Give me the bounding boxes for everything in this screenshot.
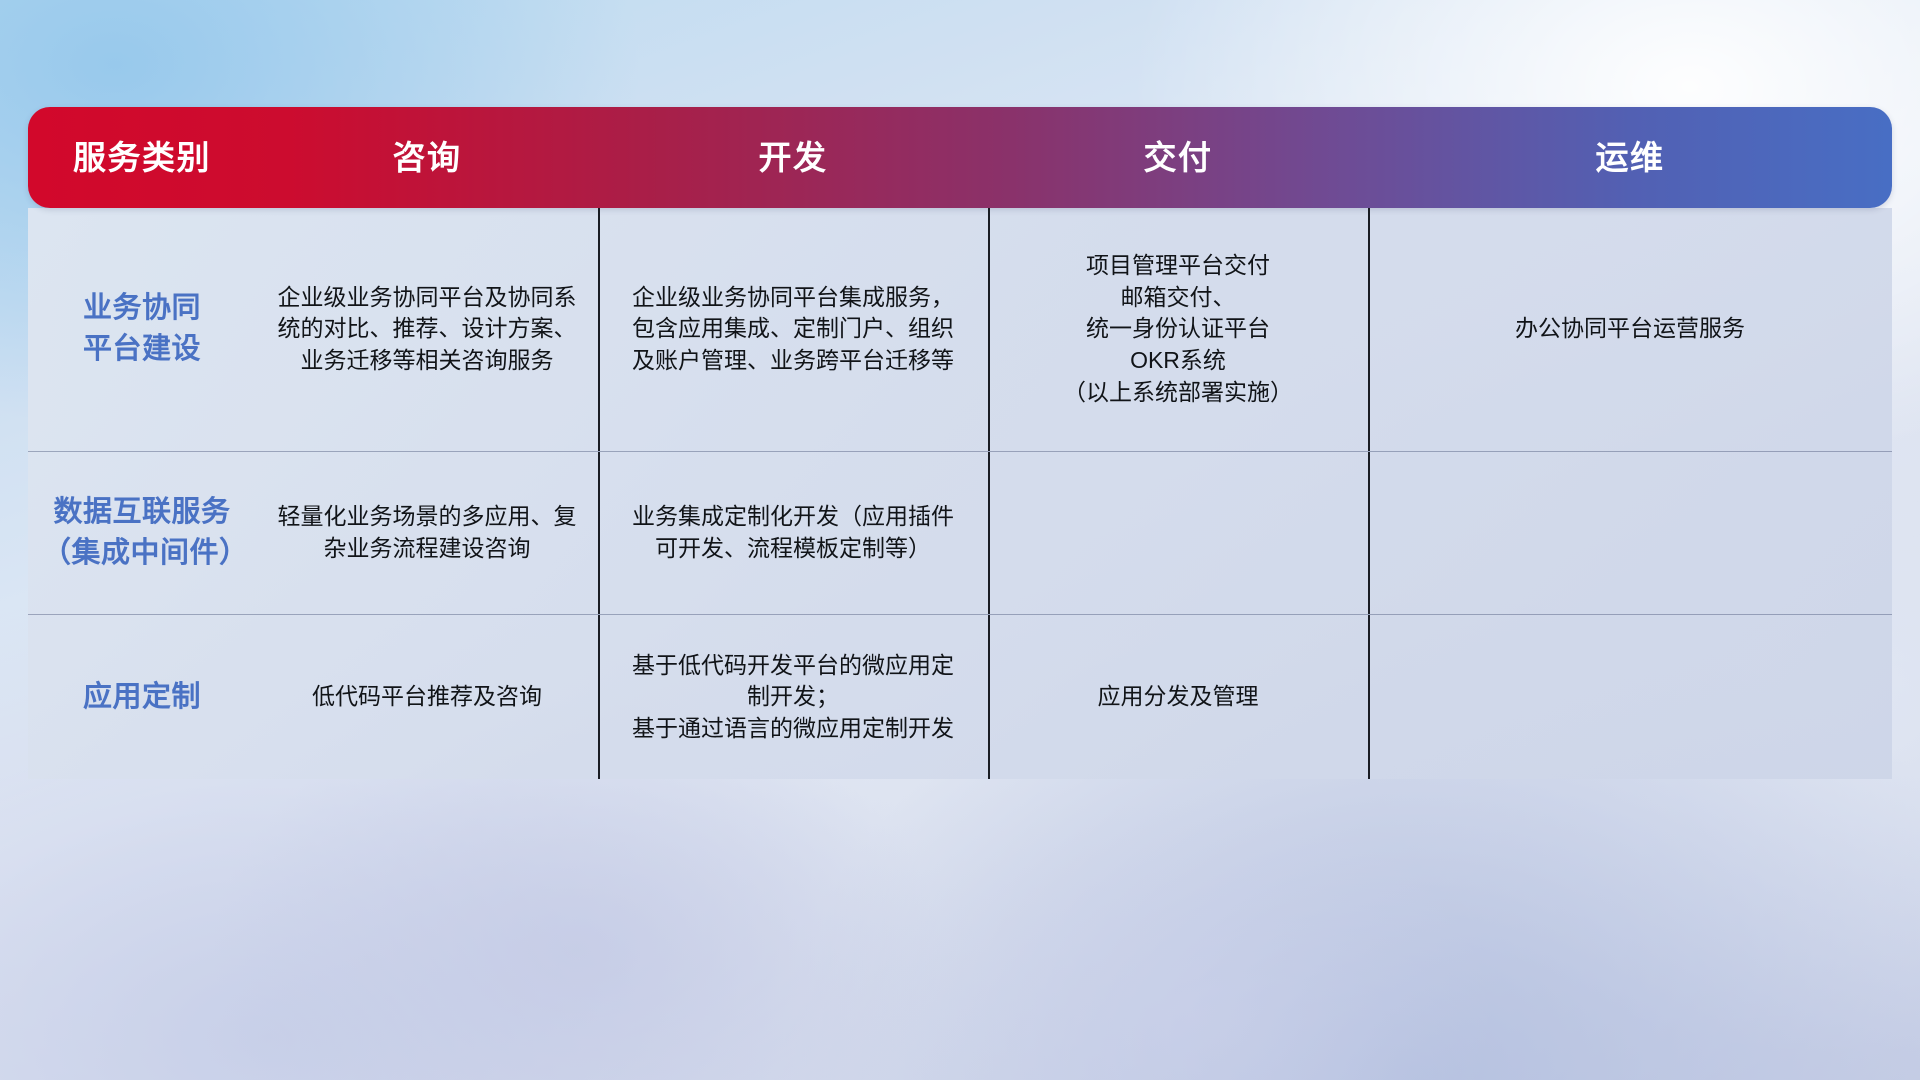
cell-category-row2: 数据互联服务 （集成中间件） <box>28 452 256 615</box>
cell-category-row3: 应用定制 <box>28 615 256 779</box>
table-row: 业务协同 平台建设 企业级业务协同平台及协同系 统的对比、推荐、设计方案、 业务… <box>28 208 1892 452</box>
cell-operations-row2 <box>1368 452 1892 615</box>
cell-development-row3: 基于低代码开发平台的微应用定 制开发； 基于通过语言的微应用定制开发 <box>598 615 988 779</box>
cell-category-row1: 业务协同 平台建设 <box>28 208 256 451</box>
cell-consulting-row2: 轻量化业务场景的多应用、复 杂业务流程建设咨询 <box>256 452 598 615</box>
header-cell-delivery: 交付 <box>988 141 1368 174</box>
header-cell-operations: 运维 <box>1368 141 1892 174</box>
service-matrix-table: 服务类别 咨询 开发 交付 运维 业务协同 平台建设 企业级业务协同平台及协同系… <box>28 107 1892 779</box>
cell-development-row1: 企业级业务协同平台集成服务， 包含应用集成、定制门户、组织 及账户管理、业务跨平… <box>598 208 988 451</box>
cell-consulting-row1: 企业级业务协同平台及协同系 统的对比、推荐、设计方案、 业务迁移等相关咨询服务 <box>256 208 598 451</box>
slide-canvas: 服务类别 咨询 开发 交付 运维 业务协同 平台建设 企业级业务协同平台及协同系… <box>0 0 1920 1080</box>
table-row: 数据互联服务 （集成中间件） 轻量化业务场景的多应用、复 杂业务流程建设咨询 业… <box>28 452 1892 616</box>
cell-delivery-row2 <box>988 452 1368 615</box>
table-header-row: 服务类别 咨询 开发 交付 运维 <box>28 107 1892 208</box>
table-body: 业务协同 平台建设 企业级业务协同平台及协同系 统的对比、推荐、设计方案、 业务… <box>28 208 1892 779</box>
header-cell-development: 开发 <box>598 141 988 174</box>
cell-delivery-row3: 应用分发及管理 <box>988 615 1368 779</box>
header-cell-consulting: 咨询 <box>256 141 598 174</box>
table-row: 应用定制 低代码平台推荐及咨询 基于低代码开发平台的微应用定 制开发； 基于通过… <box>28 615 1892 779</box>
cell-operations-row3 <box>1368 615 1892 779</box>
header-cell-service-category: 服务类别 <box>28 141 256 174</box>
cell-consulting-row3: 低代码平台推荐及咨询 <box>256 615 598 779</box>
cell-delivery-row1: 项目管理平台交付 邮箱交付、 统一身份认证平台 OKR系统 （以上系统部署实施） <box>988 208 1368 451</box>
cell-development-row2: 业务集成定制化开发（应用插件 可开发、流程模板定制等） <box>598 452 988 615</box>
cell-operations-row1: 办公协同平台运营服务 <box>1368 208 1892 451</box>
